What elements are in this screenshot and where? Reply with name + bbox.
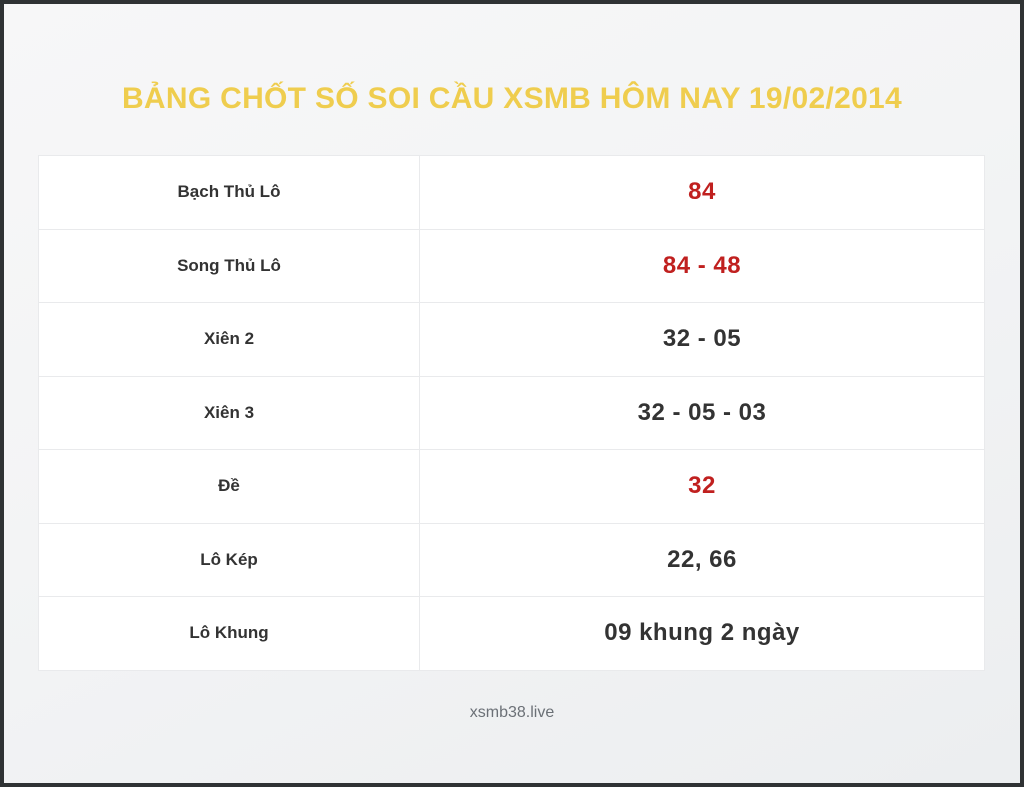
row-value-song-thu-lo: 84 - 48 [420,229,985,303]
table-row: Xiên 3 32 - 05 - 03 [39,376,985,450]
table-row: Song Thủ Lô 84 - 48 [39,229,985,303]
row-value-xien-2: 32 - 05 [420,303,985,377]
row-label-song-thu-lo: Song Thủ Lô [39,229,420,303]
row-value-xien-3: 32 - 05 - 03 [420,376,985,450]
row-label-lo-kep: Lô Kép [39,523,420,597]
page-frame: BẢNG CHỐT SỐ SOI CẦU XSMB HÔM NAY 19/02/… [4,4,1020,783]
row-value-lo-khung: 09 khung 2 ngày [420,597,985,671]
table-row: Lô Kép 22, 66 [39,523,985,597]
row-value-lo-kep: 22, 66 [420,523,985,597]
lottery-prediction-table: Bạch Thủ Lô 84 Song Thủ Lô 84 - 48 Xiên … [38,155,985,671]
row-label-xien-2: Xiên 2 [39,303,420,377]
row-value-bach-thu-lo: 84 [420,156,985,230]
table-row: Bạch Thủ Lô 84 [39,156,985,230]
row-value-de: 32 [420,450,985,524]
table-row: Lô Khung 09 khung 2 ngày [39,597,985,671]
row-label-lo-khung: Lô Khung [39,597,420,671]
row-label-xien-3: Xiên 3 [39,376,420,450]
row-label-de: Đề [39,450,420,524]
table-row: Đề 32 [39,450,985,524]
page-title: BẢNG CHỐT SỐ SOI CẦU XSMB HÔM NAY 19/02/… [4,82,1020,116]
row-label-bach-thu-lo: Bạch Thủ Lô [39,156,420,230]
table-row: Xiên 2 32 - 05 [39,303,985,377]
table-body: Bạch Thủ Lô 84 Song Thủ Lô 84 - 48 Xiên … [39,156,985,671]
site-watermark: xsmb38.live [4,704,1020,722]
